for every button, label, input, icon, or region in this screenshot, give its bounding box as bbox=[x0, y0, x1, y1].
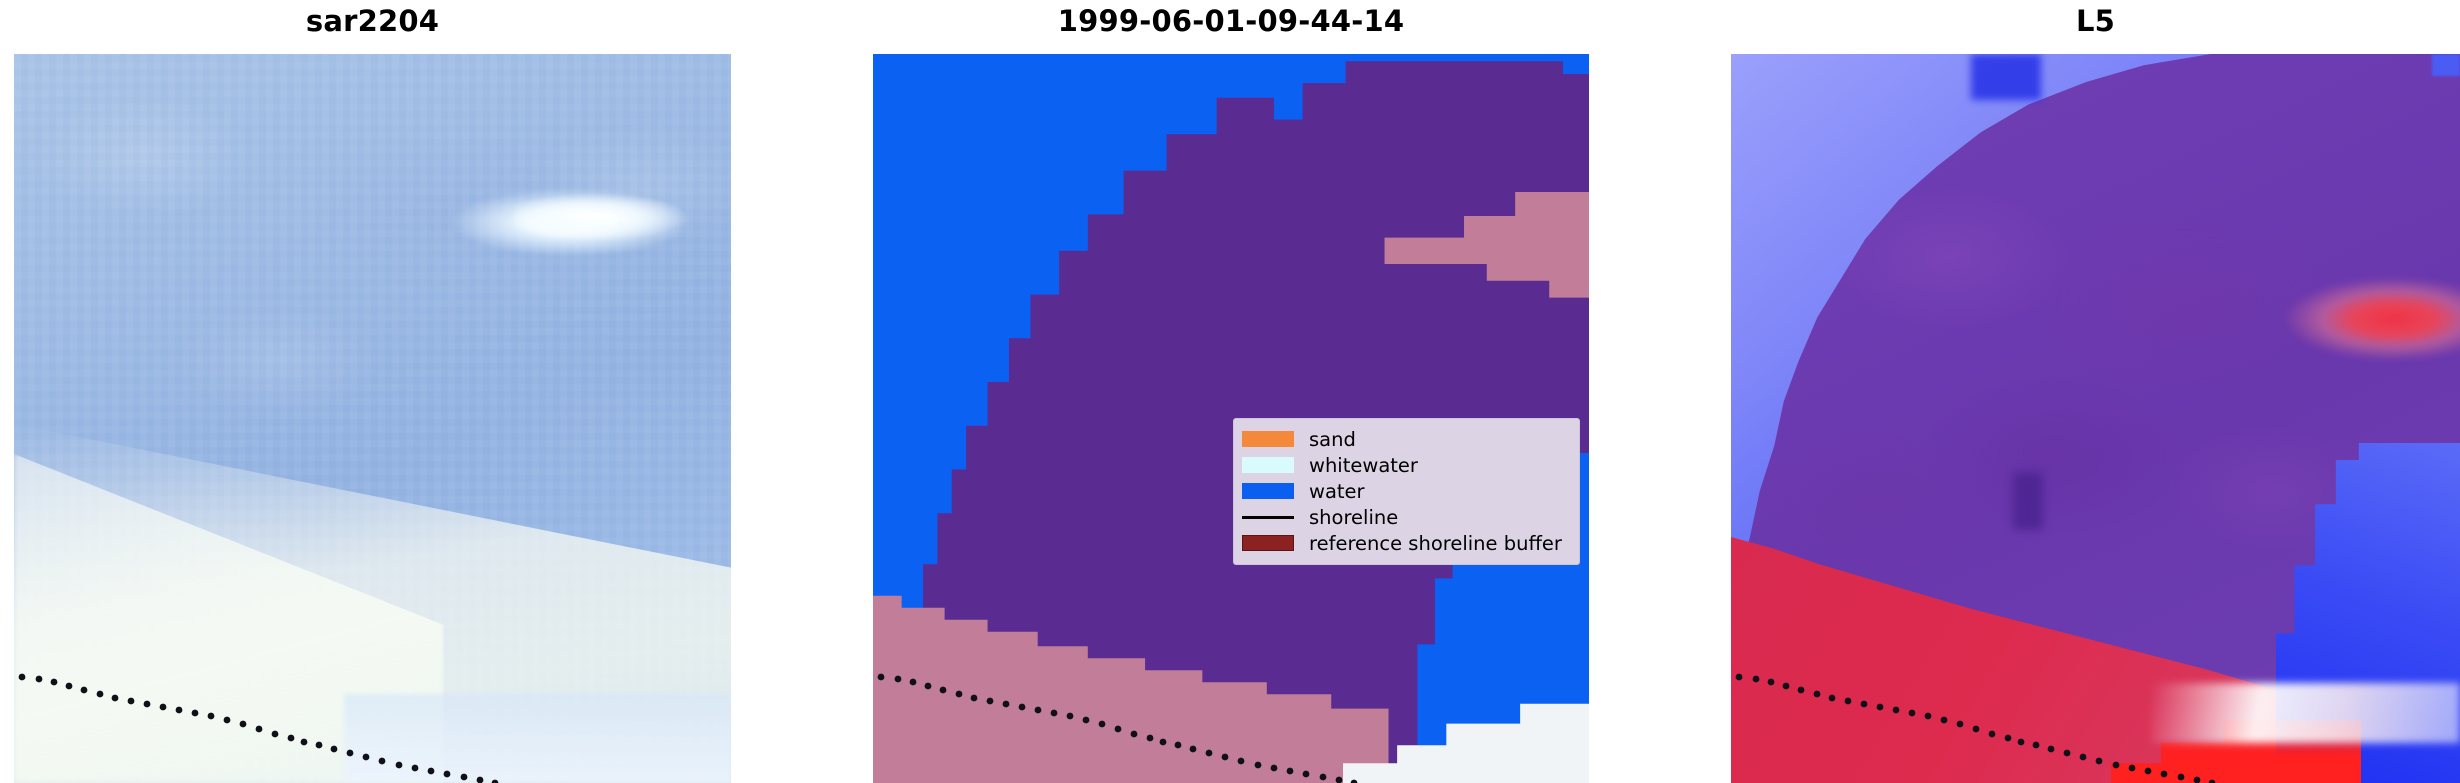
panel-sar2204-canvas bbox=[14, 54, 731, 783]
panel-title-sar2204: sar2204 bbox=[14, 4, 731, 44]
panel-sar2204[interactable] bbox=[14, 54, 731, 783]
panel-l5-canvas bbox=[1731, 54, 2460, 783]
whitewater-swatch-icon bbox=[1242, 457, 1294, 473]
legend-item-reference-buffer[interactable]: reference shoreline buffer bbox=[1242, 530, 1570, 556]
legend-label-shoreline: shoreline bbox=[1309, 508, 1398, 527]
shoreline-line-icon bbox=[1242, 509, 1294, 525]
sar-surf-band bbox=[344, 694, 731, 783]
l5-deep-blue-spot bbox=[1971, 54, 2041, 100]
class-water-top-notch bbox=[1563, 54, 1589, 74]
legend-item-water[interactable]: water bbox=[1242, 478, 1570, 504]
reference-buffer-swatch-icon bbox=[1242, 535, 1294, 551]
panel-l5[interactable] bbox=[1731, 54, 2460, 783]
legend-label-sand: sand bbox=[1309, 430, 1356, 449]
figure-root: sar2204 bbox=[0, 0, 2460, 783]
sand-swatch-icon bbox=[1242, 431, 1294, 447]
legend-label-reference-buffer: reference shoreline buffer bbox=[1309, 534, 1562, 553]
l5-water-top-notch bbox=[2432, 54, 2460, 76]
legend-label-whitewater: whitewater bbox=[1309, 456, 1418, 475]
l5-dark-spot bbox=[2013, 472, 2043, 530]
sar-bright-core bbox=[514, 182, 731, 252]
legend-item-whitewater[interactable]: whitewater bbox=[1242, 452, 1570, 478]
legend-item-shoreline[interactable]: shoreline bbox=[1242, 504, 1570, 530]
legend-item-sand[interactable]: sand bbox=[1242, 426, 1570, 452]
legend[interactable]: sand whitewater water shoreline referenc… bbox=[1233, 418, 1580, 565]
panel-title-timestamp: 1999-06-01-09-44-14 bbox=[873, 4, 1589, 44]
water-swatch-icon bbox=[1242, 483, 1294, 499]
l5-red-plume bbox=[2251, 244, 2460, 394]
legend-label-water: water bbox=[1309, 482, 1365, 501]
panel-title-l5: L5 bbox=[1731, 4, 2460, 44]
l5-white-stripe bbox=[2151, 683, 2460, 743]
